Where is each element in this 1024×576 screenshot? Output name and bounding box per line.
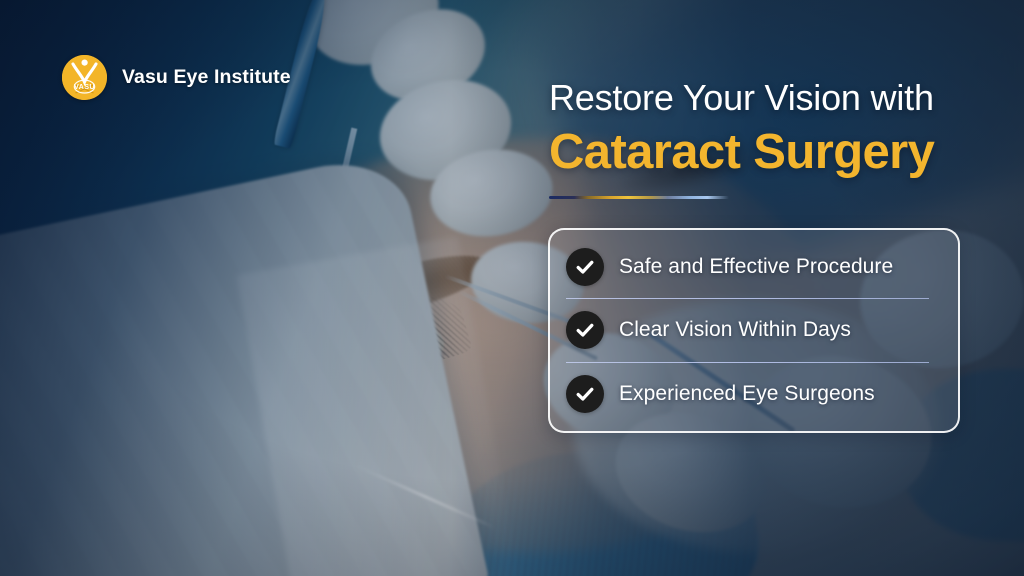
feature-divider (566, 362, 929, 363)
headline-block: Restore Your Vision with Cataract Surger… (549, 78, 969, 199)
cataract-surgery-banner: VASU Vasu Eye Institute Restore Your Vis… (0, 0, 1024, 576)
headline-line-1: Restore Your Vision with (549, 78, 969, 118)
feature-label: Safe and Effective Procedure (619, 255, 893, 279)
feature-label: Clear Vision Within Days (619, 318, 851, 342)
headline-line-2: Cataract Surgery (549, 126, 969, 180)
feature-item[interactable]: Clear Vision Within Days (566, 302, 944, 358)
feature-item[interactable]: Experienced Eye Surgeons (566, 366, 944, 422)
vasu-circle-logo-icon: VASU (62, 55, 107, 100)
brand-name: Vasu Eye Institute (122, 66, 291, 89)
features-card: Safe and Effective Procedure Clear Visio… (548, 228, 960, 433)
brand-lockup[interactable]: VASU Vasu Eye Institute (62, 55, 291, 100)
feature-item[interactable]: Safe and Effective Procedure (566, 239, 944, 295)
logo-wordmark-text: VASU (74, 82, 95, 91)
check-circle-icon (566, 375, 604, 413)
feature-label: Experienced Eye Surgeons (619, 382, 875, 406)
check-circle-icon (566, 311, 604, 349)
gradient-rule-divider (549, 196, 729, 199)
check-circle-icon (566, 248, 604, 286)
feature-divider (566, 298, 929, 299)
